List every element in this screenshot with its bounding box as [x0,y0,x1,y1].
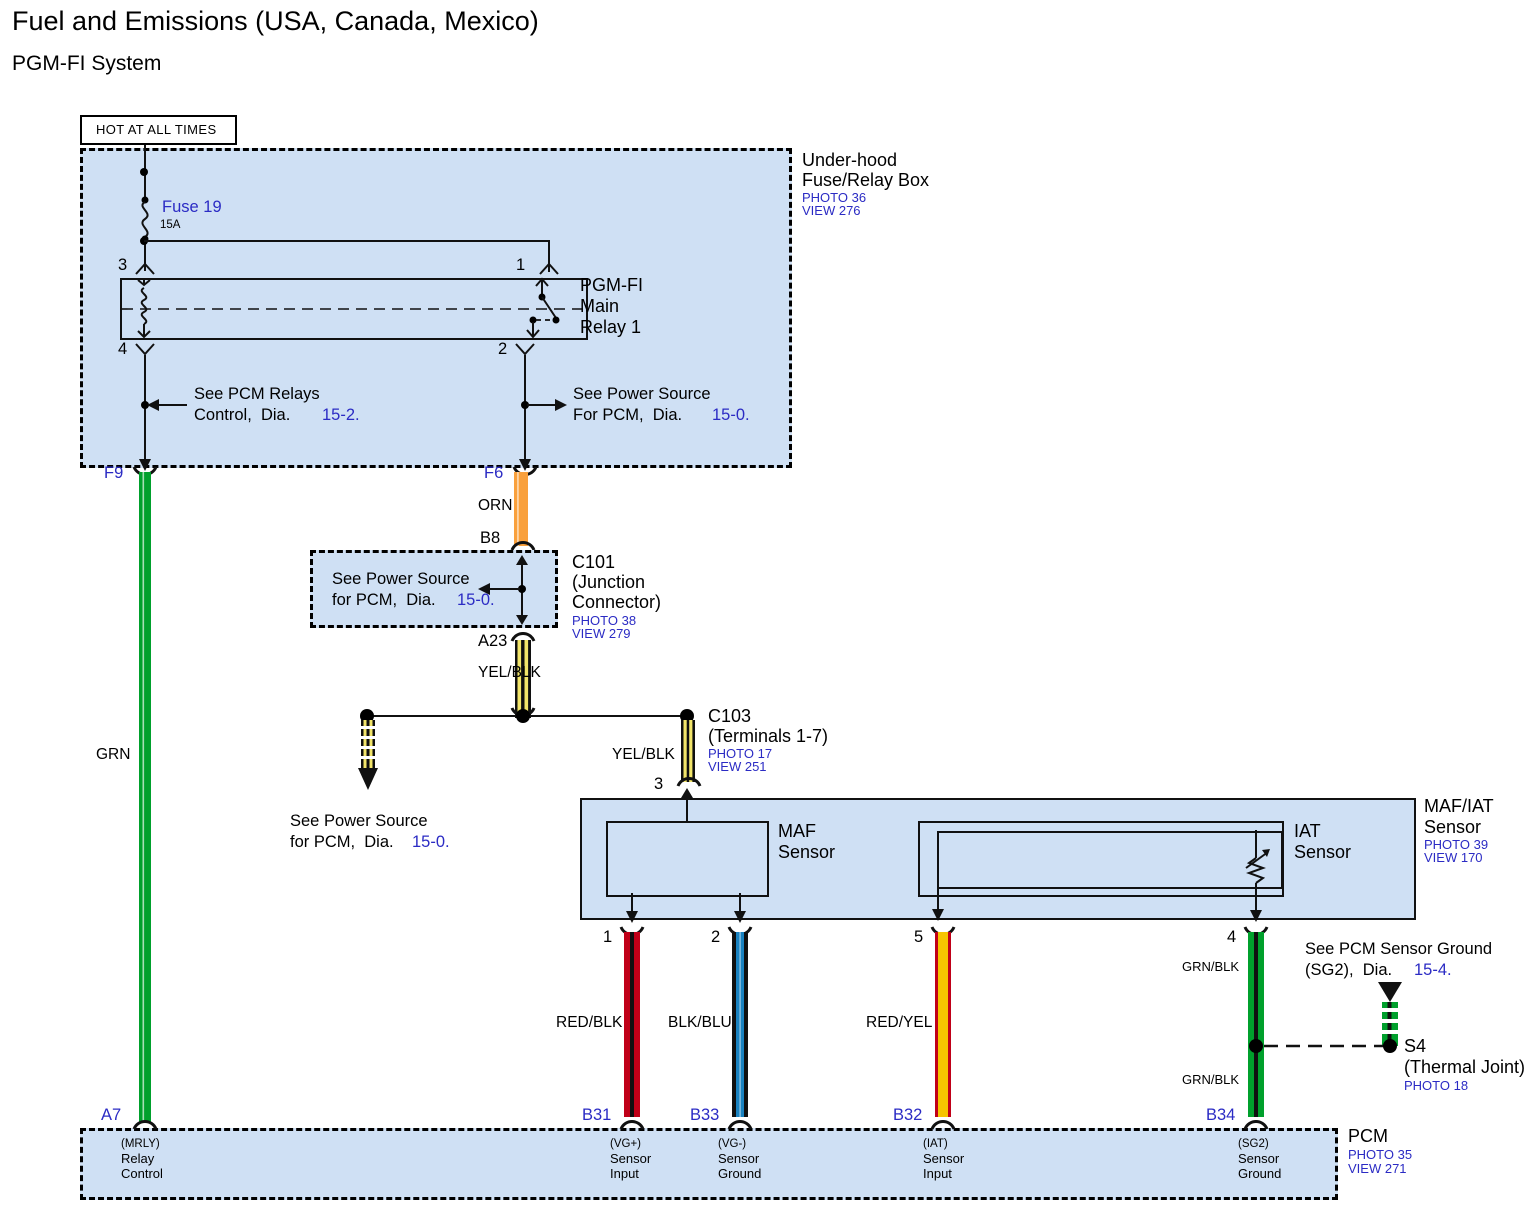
pcm-name: PCM [1348,1126,1388,1147]
wire-grnblk-b34 [1243,932,1269,1117]
terminal-a23-label: A23 [478,632,507,651]
wire-orn-f6-b8 [510,472,532,546]
terminal-b32-connector [930,1118,956,1132]
pcm-pin-b33-term: B33 [690,1106,719,1125]
branch-ref-line1: See Power Source [290,812,428,831]
power-source-pcm-ref-line2: For PCM, Dia. [573,406,682,425]
pcm-pin-a7-term: A7 [101,1106,121,1125]
iat-sensor-inner-box [937,831,1283,889]
c103-dot-center [516,709,530,723]
iat-sensor-label-line2: Sensor [1294,842,1351,863]
s4-splice-dot-right [1383,1039,1397,1053]
s4-sub: (Thermal Joint) [1404,1057,1525,1078]
wire-grnblk-bottom-label: GRN/BLK [1182,1073,1239,1088]
c101-ref-dia: 15-0. [457,591,495,610]
power-source-pcm-ref-arrow [527,397,571,413]
c101-view: VIEW 279 [572,627,631,642]
terminal-b8-label: B8 [480,529,500,548]
terminal-b33-connector [727,1118,753,1132]
wire-yelblk-c103-to-maf [678,720,698,782]
maf-pin3-number: 3 [654,775,663,794]
c101-name: C101 [572,552,615,573]
relay-pin4-number: 4 [118,340,127,359]
pcm-box [80,1128,1338,1200]
relay-name-line2: Main [580,296,619,317]
terminal-a7-connector [132,1118,158,1132]
pcm-pin-a7-line2: Control [121,1167,163,1182]
wire-yelblk-branch-down [358,720,378,792]
maf-pin1-internal-wire [624,893,640,925]
maf-pin3-internal-wire [679,788,695,824]
pcm-pin-b31-code: (VG+) [610,1138,641,1151]
maf-iat-name-line2: Sensor [1424,817,1481,838]
relay-pin1-number: 1 [516,256,525,275]
wire-blkblu-label: BLK/BLU [668,1014,732,1032]
pcm-relays-ref-line2: Control, Dia. [194,406,290,425]
terminal-b34-connector [1243,1118,1269,1132]
wire-redblk-label: RED/BLK [556,1014,622,1032]
iat-thermistor-symbol [1236,830,1276,922]
relay-pin4-connector [134,342,156,356]
relay-pin4-down-wire [136,355,154,475]
relay-contact-symbol [512,278,582,340]
sensor-ground-ref-line2: (SG2), Dia. [1305,961,1392,980]
c103-sub: (Terminals 1-7) [708,726,828,747]
sensor-ground-ref-line1: See PCM Sensor Ground [1305,940,1492,959]
c103-view: VIEW 251 [708,760,767,775]
relay-pin2-down-wire [516,355,534,475]
hot-at-all-times-label: HOT AT ALL TIMES [96,123,217,138]
relay-pin3-number: 3 [118,256,127,275]
relay-pin1-connector [538,262,560,276]
pcm-pin-b34-line2: Ground [1238,1167,1281,1182]
maf-pin1-number: 1 [603,928,612,947]
iat-sensor-label-line1: IAT [1294,821,1321,842]
maf-iat-name-line1: MAF/IAT [1424,796,1494,817]
page-subtitle: PGM-FI System [12,52,161,76]
sensor-ground-ref-dia: 15-4. [1414,961,1452,980]
maf-sensor-inner-box [606,821,769,897]
s4-photo: PHOTO 18 [1404,1079,1468,1094]
branch-ref-dia: 15-0. [412,833,450,852]
iat-pin5-internal-wire [930,831,946,923]
pcm-pin-b34-term: B34 [1206,1106,1235,1125]
fuse-box-view: VIEW 276 [802,204,861,219]
fuse-box-name-line1: Under-hood [802,150,897,171]
junction-dot-hot [140,168,148,176]
wire-yelblk-a23-label: YEL/BLK [478,664,541,682]
wire-orn-label: ORN [478,497,512,515]
wire-redblk-b31 [619,932,645,1117]
maf-sensor-label-line1: MAF [778,821,816,842]
c101-ref-line1: See Power Source [332,570,470,589]
pcm-pin-b32-line1: Sensor [923,1152,964,1167]
pcm-pin-b31-line2: Input [610,1167,639,1182]
terminal-f6-label: F6 [484,464,503,483]
iat-pin5-number: 5 [914,928,923,947]
wire-redyel-label: RED/YEL [866,1014,932,1032]
c101-ref-line2: for PCM, Dia. [332,591,436,610]
terminal-f9-label: F9 [104,464,123,483]
maf-iat-view: VIEW 170 [1424,851,1483,866]
branch-ref-line2: for PCM, Dia. [290,833,394,852]
c103-name: C103 [708,706,751,727]
fuse-box-name-line2: Fuse/Relay Box [802,170,929,191]
relay-pin2-connector [514,342,536,356]
pcm-relays-ref-arrow [145,397,189,413]
s4-name: S4 [1404,1036,1426,1057]
relay-pin3-connector [134,262,156,276]
pcm-pin-a7-code: (MRLY) [121,1138,160,1151]
relay-pin2-number: 2 [498,340,507,359]
pcm-pin-a7-line1: Relay [121,1152,154,1167]
c101-sub1: (Junction [572,572,645,593]
pcm-pin-b33-line1: Sensor [718,1152,759,1167]
terminal-maf-pin3-connector [676,775,702,789]
maf-sensor-label-line2: Sensor [778,842,835,863]
relay-name-line1: PGM-FI [580,275,643,296]
fuse-to-relay-coil-wire [144,240,550,242]
pcm-view: VIEW 271 [1348,1162,1407,1177]
c101-sub2: Connector) [572,592,661,613]
s4-splice-dot-left [1249,1039,1263,1053]
fuse-rating: 15A [160,219,180,232]
power-source-pcm-ref-line1: See Power Source [573,385,711,404]
pcm-relays-ref-dia: 15-2. [322,406,360,425]
terminal-b31-connector [619,1118,645,1132]
pcm-pin-b32-code: (IAT) [923,1138,948,1151]
pcm-pin-b31-line1: Sensor [610,1152,651,1167]
s4-dashed-link [1264,1042,1388,1050]
pcm-pin-b34-code: (SG2) [1238,1138,1269,1151]
wire-yelblk-c103-label: YEL/BLK [612,746,675,764]
wire-grn-a7 [136,472,154,1122]
relay-name-line3: Relay 1 [580,317,641,338]
page-title: Fuel and Emissions (USA, Canada, Mexico) [12,6,539,37]
wire-grnblk-top-label: GRN/BLK [1182,960,1239,975]
wire-redyel-b32 [930,932,956,1117]
pcm-pin-b31-term: B31 [582,1106,611,1125]
wiring-diagram-page: Fuel and Emissions (USA, Canada, Mexico)… [0,0,1534,1214]
pcm-pin-b33-code: (VG-) [718,1138,746,1151]
pcm-pin-b34-line1: Sensor [1238,1152,1279,1167]
maf-pin2-internal-wire [732,893,748,925]
pcm-pin-b32-term: B32 [893,1106,922,1125]
wire-grn-label: GRN [96,746,130,764]
iat-pin4-number: 4 [1227,928,1236,947]
pcm-pin-b33-line2: Ground [718,1167,761,1182]
maf-pin2-number: 2 [711,928,720,947]
pcm-relays-ref-line1: See PCM Relays [194,385,320,404]
power-source-pcm-ref-dia: 15-0. [712,406,750,425]
fuse-name: Fuse 19 [162,198,222,217]
relay-coil-symbol [134,278,158,340]
pcm-pin-b32-line2: Input [923,1167,952,1182]
